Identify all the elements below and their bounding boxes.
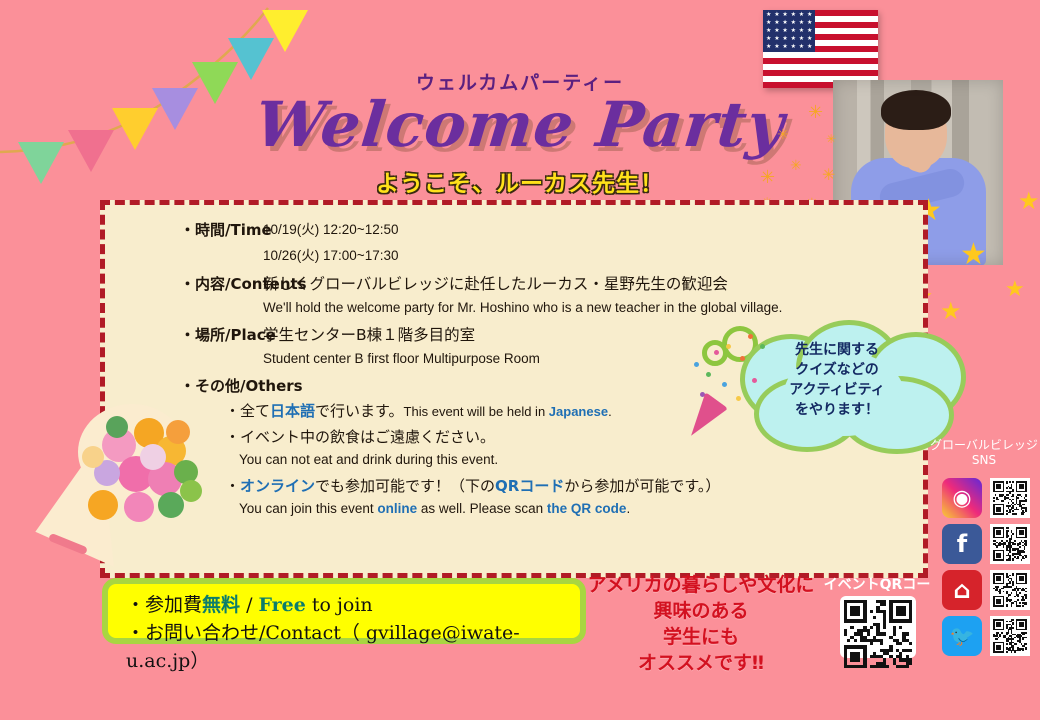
others-text: でも参加可能です！（下の <box>315 477 495 495</box>
flag-star-icon: ★ <box>782 36 787 42</box>
detail-label: ・内容/Contents <box>115 269 245 294</box>
confetti-dot <box>740 356 745 361</box>
flag-star-icon: ★ <box>807 20 812 26</box>
flower-bouquet-illustration <box>48 400 218 575</box>
flower-petal <box>140 444 166 470</box>
flag-star-icon: ★ <box>799 20 804 26</box>
detail-values: 10/19(火) 12:20~12:5010/26(火) 17:00~17:30 <box>245 215 398 267</box>
flower-petal <box>180 480 202 502</box>
promo-line: 学生にも <box>578 624 824 650</box>
others-highlight: オンライン <box>240 477 315 495</box>
confetti-dot <box>748 334 753 339</box>
detail-label: ・時間/Time <box>115 215 245 240</box>
flag-star-icon: ★ <box>774 20 779 26</box>
sparkle-icon: ✳ <box>808 103 823 121</box>
flag-star-icon: ★ <box>782 44 787 50</box>
flower-petal <box>124 492 154 522</box>
detail-label: ・場所/Place <box>115 320 245 345</box>
others-item-online-en: You can join this event online as well. … <box>225 501 903 516</box>
promo-line: アメリカの暮らしや文化に <box>578 572 824 598</box>
flag-star-icon: ★ <box>774 44 779 50</box>
flag-star-icon: ★ <box>774 28 779 34</box>
others-en-highlight: Japanese <box>549 404 608 419</box>
flag-star-icon: ★ <box>807 12 812 18</box>
flag-star-icon: ★ <box>782 12 787 18</box>
sns-title-line: SNS <box>928 453 1040 468</box>
contact-text: to join <box>306 594 373 616</box>
confetti-dot <box>706 372 711 377</box>
sparkle-icon: ✳ <box>822 168 835 184</box>
flag-star-icon: ★ <box>766 12 771 18</box>
others-en-text: You can join this event <box>239 501 377 516</box>
sns-account-row: ⌂ <box>942 570 1040 610</box>
contact-box[interactable]: ・参加費無料 / Free to join ・お問い合わせ/Contact（ g… <box>102 578 586 644</box>
flower-petal <box>106 416 128 438</box>
contact-email-line[interactable]: ・お問い合わせ/Contact（ gvillage@iwate-u.ac.jp） <box>126 619 580 675</box>
detail-value: We'll hold the welcome party for Mr. Hos… <box>245 297 782 318</box>
sparkle-icon: ✳ <box>826 133 836 145</box>
others-item-no-food-en: You can not eat and drink during this ev… <box>225 452 903 467</box>
flag-star-icon: ★ <box>774 12 779 18</box>
detail-row: ・時間/Time10/19(火) 12:20~12:5010/26(火) 17:… <box>115 215 913 267</box>
flag-star-icon: ★ <box>807 44 812 50</box>
detail-values: 学生センターB棟１階多目的室Student center B first flo… <box>245 320 540 369</box>
others-en-highlight: online <box>377 501 417 516</box>
facebook-icon[interactable]: f <box>942 524 982 564</box>
others-en-text: as well. Please scan <box>417 501 547 516</box>
flag-star-icon: ★ <box>791 44 796 50</box>
bubble-line: アクティビティ <box>752 380 922 400</box>
confetti-dot <box>722 382 727 387</box>
detail-value: 10/19(火) 12:20~12:50 <box>245 215 398 241</box>
website-home-qr-code[interactable] <box>990 570 1030 610</box>
flag-star-icon: ★ <box>799 36 804 42</box>
flag-star-icon: ★ <box>791 36 796 42</box>
contact-highlight: 無料 <box>202 594 240 616</box>
sparkle-icon: ✳ <box>760 168 775 186</box>
flag-star-icon: ★ <box>807 28 812 34</box>
detail-value: 新しくグローバルビレッジに赴任したルーカス・星野先生の歓迎会 <box>245 269 782 297</box>
others-highlight: QRコード <box>495 477 564 495</box>
instagram-icon[interactable]: ◉ <box>942 478 982 518</box>
others-item-online: ・オンラインでも参加可能です！（下のQRコードから参加が可能です。） <box>225 475 903 496</box>
others-en-text: This event will be held in <box>404 404 549 419</box>
flower-petal <box>166 420 190 444</box>
promo-line: オススメです‼ <box>578 650 824 676</box>
contact-fee-line: ・参加費無料 / Free to join <box>126 591 580 619</box>
event-qr-code[interactable] <box>840 596 916 658</box>
promo-text: アメリカの暮らしや文化に 興味のある 学生にも オススメです‼ <box>578 572 824 676</box>
flower-petal <box>82 446 104 468</box>
flower-petal <box>88 490 118 520</box>
flag-star-icon: ★ <box>791 28 796 34</box>
contact-text: / <box>240 594 258 616</box>
twitter-icon[interactable]: 🐦 <box>942 616 982 656</box>
others-en-highlight: the QR code <box>547 501 627 516</box>
bubble-text: 先生に関する クイズなどの アクティビティ をやります！ <box>752 340 922 420</box>
sparkle-icon: ✳ <box>790 158 802 172</box>
bubble-line: 先生に関する <box>752 340 922 360</box>
activity-speech-bubble: 先生に関する クイズなどの アクティビティ をやります！ <box>700 318 968 446</box>
star-icon: ★ <box>960 240 987 270</box>
others-text: ・ <box>225 477 240 495</box>
flag-star-icon: ★ <box>799 44 804 50</box>
sns-title-line: グローバルビレッジ <box>928 438 1040 453</box>
others-highlight: 日本語 <box>270 402 315 420</box>
instagram-qr-code[interactable] <box>990 478 1030 518</box>
others-text: から参加が可能です。） <box>564 477 720 495</box>
detail-value: 10/26(火) 17:00~17:30 <box>245 241 398 267</box>
detail-value: 学生センターB棟１階多目的室 <box>245 320 540 348</box>
bubble-line: をやります！ <box>752 400 922 420</box>
confetti-dot <box>726 344 731 349</box>
sparkle-icon: ✳ <box>777 127 789 141</box>
flag-star-icon: ★ <box>791 12 796 18</box>
poster-canvas: ウェルカムパーティー Welcome Party ようこそ、ルーカス先生！ ★★… <box>0 0 1040 720</box>
detail-row: ・内容/Contents新しくグローバルビレッジに赴任したルーカス・星野先生の歓… <box>115 269 913 318</box>
others-text: で行います。 <box>315 402 404 420</box>
sns-title: グローバルビレッジ SNS <box>928 438 1040 468</box>
flag-star-icon: ★ <box>807 36 812 42</box>
others-en-text: . <box>608 404 612 419</box>
flag-star-icon: ★ <box>782 20 787 26</box>
flag-star-icon: ★ <box>791 20 796 26</box>
others-en-text: . <box>626 501 630 516</box>
twitter-qr-code[interactable] <box>990 616 1030 656</box>
sns-account-row: 🐦 <box>942 616 1040 656</box>
flag-star-icon: ★ <box>766 20 771 26</box>
promo-line: 興味のある <box>578 598 824 624</box>
confetti-dot <box>736 396 741 401</box>
contact-highlight: Free <box>259 594 306 616</box>
detail-value: Student center B first floor Multipurpos… <box>245 348 540 369</box>
website-home-icon[interactable]: ⌂ <box>942 570 982 610</box>
star-icon: ★ <box>1018 190 1040 214</box>
sns-account-row: ◉ <box>942 478 1040 518</box>
sns-account-row: f <box>942 524 1040 564</box>
flag-star-icon: ★ <box>766 36 771 42</box>
facebook-qr-code[interactable] <box>990 524 1030 564</box>
others-text: ・全て <box>225 402 270 420</box>
bubble-line: クイズなどの <box>752 360 922 380</box>
flag-star-icon: ★ <box>766 28 771 34</box>
us-flag-icon: ★★★★★★★★★★★★★★★★★★★★★★★★★★★★★★ <box>763 10 878 88</box>
flag-star-icon: ★ <box>799 12 804 18</box>
flag-star-icon: ★ <box>799 28 804 34</box>
detail-label: ・その他/Others <box>115 371 245 396</box>
star-icon: ★ <box>1005 278 1025 300</box>
flower-petal <box>158 492 184 518</box>
confetti-dot <box>714 350 719 355</box>
flag-star-icon: ★ <box>782 28 787 34</box>
detail-values: 新しくグローバルビレッジに赴任したルーカス・星野先生の歓迎会We'll hold… <box>245 269 782 318</box>
contact-text: ・参加費 <box>126 594 202 616</box>
flag-star-icon: ★ <box>774 36 779 42</box>
flag-star-icon: ★ <box>766 44 771 50</box>
confetti-dot <box>694 362 699 367</box>
bunting-flag <box>262 10 308 52</box>
